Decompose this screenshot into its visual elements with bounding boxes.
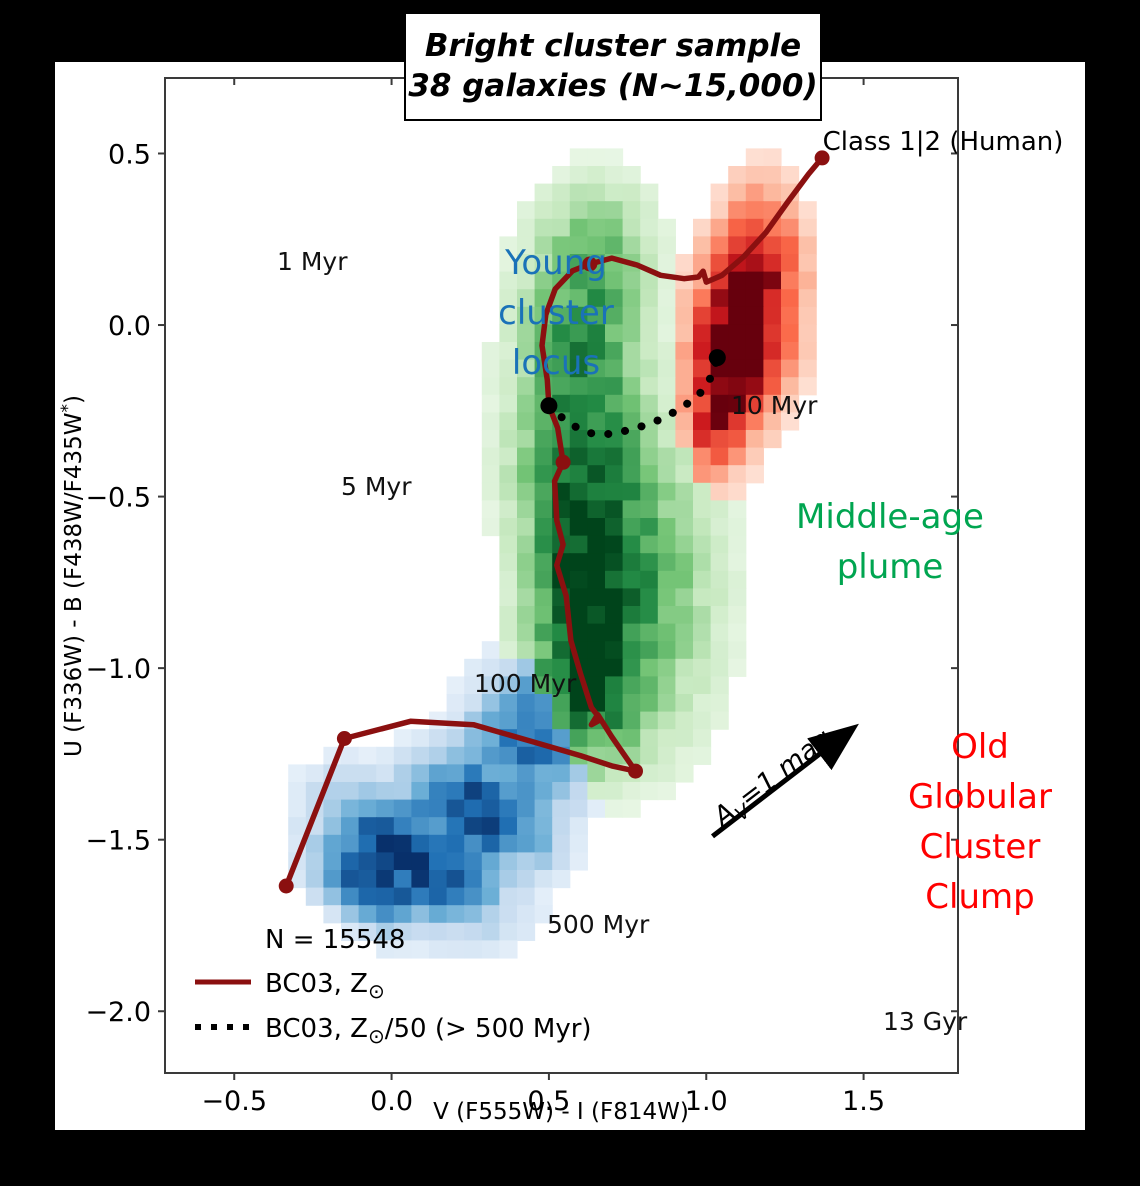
track-age-marker xyxy=(556,455,571,470)
density-cell xyxy=(640,324,658,342)
density-cell xyxy=(535,888,553,906)
density-cell xyxy=(341,835,359,853)
x-tick-label: 1.0 xyxy=(685,1086,728,1117)
density-cell xyxy=(447,782,465,800)
density-cell xyxy=(570,148,588,166)
density-cell xyxy=(552,782,570,800)
density-cell xyxy=(728,219,746,237)
density-cell xyxy=(482,905,500,923)
density-cell xyxy=(623,395,641,413)
density-cell xyxy=(535,219,553,237)
density-cell xyxy=(535,764,553,782)
density-cell xyxy=(535,712,553,730)
density-cell xyxy=(517,800,535,818)
density-cell xyxy=(411,905,429,923)
density-cell xyxy=(535,870,553,888)
y-tick-label: −2.0 xyxy=(85,997,151,1028)
density-cell xyxy=(517,835,535,853)
density-cell xyxy=(517,624,535,642)
density-cell xyxy=(658,782,676,800)
density-cell xyxy=(376,817,394,835)
density-cell xyxy=(605,236,623,254)
density-cell xyxy=(711,465,729,483)
density-cell xyxy=(394,817,412,835)
density-cell xyxy=(306,764,324,782)
density-cell xyxy=(728,342,746,360)
density-cell xyxy=(535,800,553,818)
density-cell xyxy=(376,764,394,782)
density-cell xyxy=(640,624,658,642)
density-cell xyxy=(658,659,676,677)
density-cell xyxy=(605,377,623,395)
legend-dotted-text: BC03, Z xyxy=(265,1014,368,1044)
density-cell xyxy=(323,835,341,853)
density-cell xyxy=(675,641,693,659)
density-cell xyxy=(675,307,693,325)
density-cell xyxy=(587,412,605,430)
density-cell xyxy=(675,360,693,378)
density-cell xyxy=(288,764,306,782)
density-cell xyxy=(394,764,412,782)
density-cell xyxy=(605,641,623,659)
density-cell xyxy=(711,324,729,342)
density-cell xyxy=(587,201,605,219)
density-cell xyxy=(482,430,500,448)
density-cell xyxy=(499,641,517,659)
density-cell xyxy=(517,712,535,730)
density-cell xyxy=(411,940,429,958)
density-cell xyxy=(394,905,412,923)
density-cell xyxy=(499,905,517,923)
density-cell xyxy=(552,817,570,835)
legend-dotted-rest: /50 (> 500 Myr) xyxy=(385,1014,592,1044)
legend-solid-subscript: ⊙ xyxy=(368,979,385,1003)
density-cell xyxy=(376,782,394,800)
density-cell xyxy=(728,307,746,325)
density-cell xyxy=(411,729,429,747)
density-cell xyxy=(675,694,693,712)
density-cell xyxy=(535,852,553,870)
density-cell xyxy=(711,236,729,254)
density-cell xyxy=(675,588,693,606)
x-tick-label: 0.0 xyxy=(370,1086,413,1117)
density-cell xyxy=(658,465,676,483)
density-cell xyxy=(587,500,605,518)
density-cell xyxy=(693,307,711,325)
density-cell xyxy=(693,553,711,571)
density-cell xyxy=(711,448,729,466)
density-cell xyxy=(605,395,623,413)
density-cell xyxy=(693,518,711,536)
density-cell xyxy=(447,800,465,818)
density-cell xyxy=(711,219,729,237)
density-cell xyxy=(675,430,693,448)
density-cell xyxy=(640,395,658,413)
density-cell xyxy=(693,219,711,237)
density-cell xyxy=(746,360,764,378)
density-cell xyxy=(482,817,500,835)
density-cell xyxy=(640,342,658,360)
density-cell xyxy=(728,448,746,466)
density-cell xyxy=(447,694,465,712)
density-cell xyxy=(799,272,817,290)
density-cell xyxy=(623,624,641,642)
density-cell xyxy=(640,747,658,765)
density-cell xyxy=(517,430,535,448)
density-cell xyxy=(570,448,588,466)
density-cell xyxy=(675,324,693,342)
density-cell xyxy=(587,518,605,536)
density-cell xyxy=(605,659,623,677)
density-cell xyxy=(675,764,693,782)
density-cell xyxy=(323,817,341,835)
density-cell xyxy=(447,835,465,853)
density-cell xyxy=(482,764,500,782)
density-cell xyxy=(693,483,711,501)
density-cell xyxy=(605,184,623,202)
density-cell xyxy=(499,395,517,413)
density-cell xyxy=(746,166,764,184)
density-cell xyxy=(623,307,641,325)
density-cell xyxy=(658,360,676,378)
density-cell xyxy=(693,747,711,765)
density-cell xyxy=(728,236,746,254)
density-cell xyxy=(658,483,676,501)
density-cell xyxy=(359,870,377,888)
density-cell xyxy=(464,888,482,906)
middle-label-line2: plume xyxy=(837,547,944,587)
density-cell xyxy=(587,148,605,166)
density-cell xyxy=(429,888,447,906)
density-cell xyxy=(517,518,535,536)
legend-count: N = 15548 xyxy=(265,925,405,955)
density-cell xyxy=(640,553,658,571)
density-cell xyxy=(587,729,605,747)
density-cell xyxy=(711,201,729,219)
density-cell xyxy=(658,606,676,624)
density-cell xyxy=(623,659,641,677)
density-cell xyxy=(693,571,711,589)
density-cell xyxy=(499,483,517,501)
density-cell xyxy=(429,852,447,870)
density-cell xyxy=(535,782,553,800)
density-cell xyxy=(693,729,711,747)
density-cell xyxy=(781,236,799,254)
density-cell xyxy=(693,500,711,518)
density-cell xyxy=(447,888,465,906)
density-cell xyxy=(693,342,711,360)
density-cell xyxy=(464,870,482,888)
y-tick-label: −1.0 xyxy=(85,654,151,685)
middle-label-line1: Middle-age xyxy=(796,497,984,537)
young-label-line1: Young xyxy=(504,243,607,283)
density-cell xyxy=(447,852,465,870)
density-cell xyxy=(464,800,482,818)
density-cell xyxy=(640,782,658,800)
density-cell xyxy=(482,923,500,941)
density-cell xyxy=(499,412,517,430)
density-cell xyxy=(376,870,394,888)
density-cell xyxy=(517,817,535,835)
density-cell xyxy=(623,782,641,800)
density-cell xyxy=(623,712,641,730)
density-cell xyxy=(411,835,429,853)
density-cell xyxy=(482,747,500,765)
density-cell xyxy=(658,712,676,730)
density-cell xyxy=(464,835,482,853)
density-cell xyxy=(781,360,799,378)
density-cell xyxy=(693,641,711,659)
density-cell xyxy=(658,518,676,536)
density-cell xyxy=(658,307,676,325)
density-cell xyxy=(605,518,623,536)
density-cell xyxy=(499,606,517,624)
density-cell xyxy=(587,219,605,237)
density-cell xyxy=(517,905,535,923)
density-cell xyxy=(517,888,535,906)
density-cell xyxy=(746,272,764,290)
density-cell xyxy=(675,518,693,536)
density-cell xyxy=(623,360,641,378)
density-cell xyxy=(587,800,605,818)
density-cell xyxy=(587,184,605,202)
density-cell xyxy=(376,888,394,906)
density-cell xyxy=(288,782,306,800)
density-cell xyxy=(675,624,693,642)
density-cell xyxy=(640,536,658,554)
density-cell xyxy=(711,536,729,554)
density-cell xyxy=(429,940,447,958)
density-cell xyxy=(640,659,658,677)
density-cell xyxy=(482,835,500,853)
density-cell xyxy=(711,624,729,642)
density-cell xyxy=(799,254,817,272)
density-cell xyxy=(728,360,746,378)
density-cell xyxy=(570,201,588,219)
density-cell xyxy=(394,800,412,818)
density-cell xyxy=(394,870,412,888)
age-label: 100 Myr xyxy=(474,669,577,698)
density-cell xyxy=(447,817,465,835)
density-cell xyxy=(341,888,359,906)
density-cell xyxy=(464,905,482,923)
density-cell xyxy=(499,747,517,765)
young-label-line2: cluster xyxy=(498,293,614,333)
density-cell xyxy=(711,571,729,589)
y-tick-label: 0.0 xyxy=(108,311,151,342)
density-cell xyxy=(640,465,658,483)
density-cell xyxy=(675,500,693,518)
density-cell xyxy=(623,729,641,747)
density-cell xyxy=(482,782,500,800)
density-cell xyxy=(605,606,623,624)
age-label: 10 Myr xyxy=(731,391,818,420)
density-cell xyxy=(464,817,482,835)
density-cell xyxy=(552,764,570,782)
legend-solid-text: BC03, Z xyxy=(265,969,368,999)
density-cell xyxy=(675,377,693,395)
y-tick-label: −1.5 xyxy=(85,826,151,857)
density-cell xyxy=(693,465,711,483)
density-cell xyxy=(499,940,517,958)
density-cell xyxy=(447,905,465,923)
density-cell xyxy=(394,888,412,906)
density-cell xyxy=(746,465,764,483)
density-cell xyxy=(640,448,658,466)
density-cell xyxy=(552,852,570,870)
density-cell xyxy=(605,553,623,571)
density-cell xyxy=(728,483,746,501)
density-cell xyxy=(570,571,588,589)
density-cell xyxy=(693,659,711,677)
density-cell xyxy=(711,518,729,536)
plot-figure: −0.50.00.51.01.5−2.0−1.5−1.0−0.50.00.5 A… xyxy=(55,62,1085,1130)
density-cell xyxy=(517,395,535,413)
density-cell xyxy=(623,219,641,237)
young-cluster-locus-label: Young cluster locus xyxy=(498,243,614,383)
density-cell xyxy=(623,518,641,536)
density-cell xyxy=(799,289,817,307)
density-cell xyxy=(552,184,570,202)
density-cell xyxy=(376,835,394,853)
density-cell xyxy=(552,201,570,219)
density-cell xyxy=(359,817,377,835)
density-cell xyxy=(411,852,429,870)
old-label-line4: Clump xyxy=(925,877,1034,917)
young-label-line3: locus xyxy=(512,343,600,383)
density-cell xyxy=(570,553,588,571)
density-cell xyxy=(693,676,711,694)
density-cell xyxy=(658,430,676,448)
density-cell xyxy=(605,448,623,466)
density-cell xyxy=(640,430,658,448)
density-cell xyxy=(306,888,324,906)
density-cell xyxy=(781,342,799,360)
density-cell xyxy=(675,412,693,430)
density-cell xyxy=(341,764,359,782)
legend-dotted-label: BC03, Z⊙/50 (> 500 Myr) xyxy=(265,1014,592,1048)
density-cell xyxy=(605,483,623,501)
density-cell xyxy=(429,905,447,923)
density-cell xyxy=(623,272,641,290)
density-cell xyxy=(499,800,517,818)
density-cell xyxy=(359,747,377,765)
density-cell xyxy=(552,729,570,747)
density-cell xyxy=(693,606,711,624)
density-cell xyxy=(658,342,676,360)
density-cell xyxy=(746,342,764,360)
density-cell xyxy=(746,148,764,166)
density-cell xyxy=(605,624,623,642)
age-label: 1 Myr xyxy=(277,247,348,276)
density-cell xyxy=(675,465,693,483)
density-cell xyxy=(376,800,394,818)
density-cell xyxy=(781,272,799,290)
density-cell xyxy=(587,588,605,606)
density-cell xyxy=(623,342,641,360)
density-cell xyxy=(499,536,517,554)
density-cell xyxy=(763,184,781,202)
density-cell xyxy=(693,412,711,430)
density-cell xyxy=(746,307,764,325)
density-cell xyxy=(763,342,781,360)
density-cell xyxy=(499,430,517,448)
density-cell xyxy=(411,888,429,906)
density-cell xyxy=(411,747,429,765)
density-cell xyxy=(728,184,746,202)
density-cell xyxy=(711,500,729,518)
density-cell xyxy=(640,201,658,219)
density-cell xyxy=(658,694,676,712)
density-cell xyxy=(517,571,535,589)
density-cell xyxy=(429,800,447,818)
density-cell xyxy=(623,166,641,184)
density-cell xyxy=(587,659,605,677)
density-cell xyxy=(746,324,764,342)
density-cell xyxy=(482,852,500,870)
density-cell xyxy=(693,395,711,413)
track-age-marker xyxy=(540,397,557,414)
density-cell xyxy=(675,448,693,466)
density-cell xyxy=(763,254,781,272)
density-cell xyxy=(464,747,482,765)
density-cell xyxy=(623,448,641,466)
density-cell xyxy=(623,324,641,342)
density-cell xyxy=(605,412,623,430)
density-cell xyxy=(323,905,341,923)
density-cell xyxy=(535,817,553,835)
density-cell xyxy=(323,888,341,906)
density-cell xyxy=(728,324,746,342)
density-cell xyxy=(376,747,394,765)
density-cell xyxy=(763,307,781,325)
density-cell xyxy=(359,852,377,870)
density-cell xyxy=(693,289,711,307)
density-cell xyxy=(499,888,517,906)
x-axis-label: V (F555W) - I (F814W) xyxy=(433,1099,689,1125)
density-cell xyxy=(464,782,482,800)
density-cell xyxy=(799,324,817,342)
density-cell xyxy=(675,606,693,624)
density-cell xyxy=(499,624,517,642)
class-annotation: Class 1|2 (Human) xyxy=(823,127,1064,157)
density-cell xyxy=(640,764,658,782)
density-cell xyxy=(517,448,535,466)
density-cell xyxy=(658,553,676,571)
density-cell xyxy=(411,923,429,941)
density-cell xyxy=(658,676,676,694)
density-cell xyxy=(587,553,605,571)
density-cell xyxy=(570,800,588,818)
density-cell xyxy=(675,676,693,694)
density-cell xyxy=(640,729,658,747)
density-cell xyxy=(359,782,377,800)
density-cell xyxy=(799,219,817,237)
density-cell xyxy=(781,289,799,307)
track-age-marker xyxy=(337,731,352,746)
density-cell xyxy=(499,571,517,589)
density-cell xyxy=(799,342,817,360)
density-cell xyxy=(499,448,517,466)
density-cell xyxy=(711,641,729,659)
density-cell xyxy=(517,588,535,606)
density-cell xyxy=(587,536,605,554)
track-age-marker xyxy=(628,764,643,779)
density-cell xyxy=(429,817,447,835)
density-cell xyxy=(623,694,641,712)
density-cell xyxy=(640,694,658,712)
density-cell xyxy=(517,483,535,501)
